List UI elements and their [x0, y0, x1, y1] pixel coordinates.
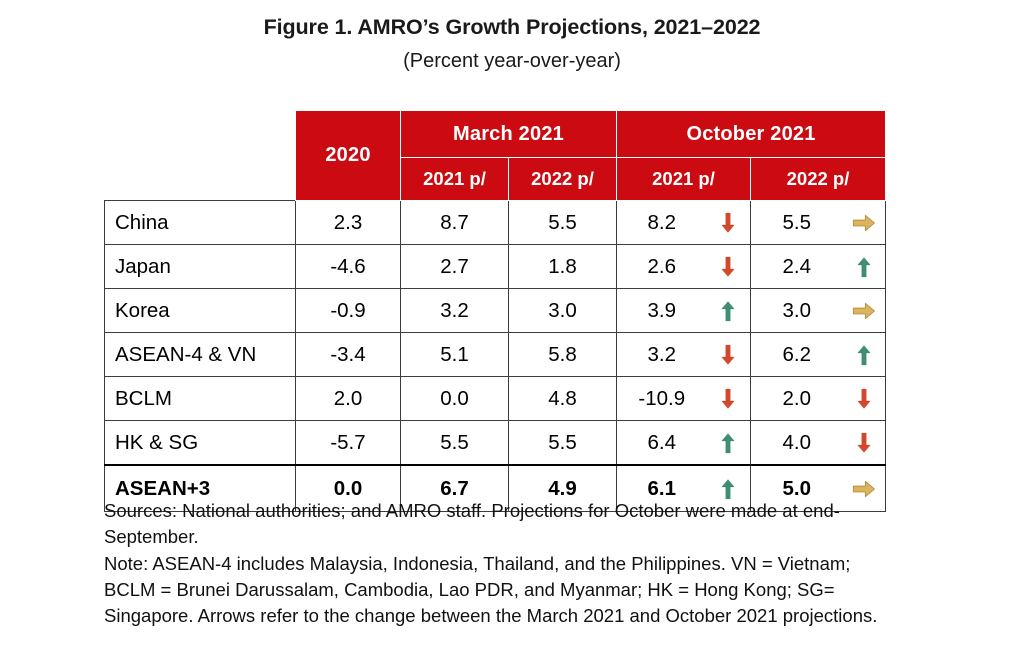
row-label-0: China [105, 201, 296, 245]
cell-march-2022: 3.0 [509, 289, 617, 333]
arrow-down-icon [715, 342, 741, 368]
row-label-1: Japan [105, 245, 296, 289]
header-october-2021-p: 2021 p/ [617, 158, 751, 201]
cell-october-2021: 3.9 [617, 289, 707, 333]
cell-october-2022: 3.0 [751, 289, 843, 333]
arrow-down-icon [715, 386, 741, 412]
cell-october-2021-arrow [707, 289, 751, 333]
cell-october-2022-arrow [843, 201, 886, 245]
cell-march-2022: 5.8 [509, 333, 617, 377]
arrow-down-icon [851, 430, 877, 456]
cell-march-2021: 2.7 [401, 245, 509, 289]
table-header: 2020 March 2021 October 2021 2021 p/ 202… [105, 111, 886, 201]
cell-march-2022: 4.8 [509, 377, 617, 421]
table-header-row-groups: 2020 March 2021 October 2021 [105, 111, 886, 158]
cell-march-2022: 5.5 [509, 201, 617, 245]
arrow-down-icon [715, 210, 741, 236]
cell-march-2021: 5.1 [401, 333, 509, 377]
table-row: Korea-0.93.23.03.93.0 [105, 289, 886, 333]
arrow-up-icon [851, 254, 877, 280]
cell-october-2022-arrow [843, 421, 886, 466]
cell-march-2022: 5.5 [509, 421, 617, 466]
cell-october-2022: 2.0 [751, 377, 843, 421]
arrow-right-icon [851, 298, 877, 324]
table-body: China2.38.75.58.25.5Japan-4.62.71.82.62.… [105, 201, 886, 512]
cell-march-2022: 1.8 [509, 245, 617, 289]
cell-october-2022-arrow [843, 333, 886, 377]
header-group-march-2021: March 2021 [401, 111, 617, 158]
arrow-up-icon [715, 298, 741, 324]
cell-october-2021-arrow [707, 333, 751, 377]
footnote-note: Note: ASEAN-4 includes Malaysia, Indones… [104, 551, 899, 630]
table-row: BCLM2.00.04.8-10.92.0 [105, 377, 886, 421]
cell-october-2021: 2.6 [617, 245, 707, 289]
cell-2020: -5.7 [296, 421, 401, 466]
header-march-2022-p: 2022 p/ [509, 158, 617, 201]
cell-october-2022-arrow [843, 289, 886, 333]
table-row: HK & SG-5.75.55.56.44.0 [105, 421, 886, 466]
row-label-5: HK & SG [105, 421, 296, 466]
cell-october-2022: 2.4 [751, 245, 843, 289]
title-block: Figure 1. AMRO’s Growth Projections, 202… [0, 14, 1024, 74]
cell-october-2021: 6.4 [617, 421, 707, 466]
figure-page: Figure 1. AMRO’s Growth Projections, 202… [0, 0, 1024, 663]
row-label-3: ASEAN-4 & VN [105, 333, 296, 377]
arrow-up-icon [715, 430, 741, 456]
figure-subtitle: (Percent year-over-year) [0, 48, 1024, 74]
header-october-2022-p: 2022 p/ [751, 158, 886, 201]
arrow-down-icon [715, 254, 741, 280]
cell-october-2021-arrow [707, 377, 751, 421]
header-col-2020: 2020 [296, 111, 401, 201]
table-row: Japan-4.62.71.82.62.4 [105, 245, 886, 289]
cell-october-2021-arrow [707, 245, 751, 289]
cell-october-2022: 5.5 [751, 201, 843, 245]
footnote-sources: Sources: National authorities; and AMRO … [104, 498, 899, 551]
arrow-right-icon [851, 210, 877, 236]
cell-october-2021: 8.2 [617, 201, 707, 245]
cell-march-2021: 3.2 [401, 289, 509, 333]
table-row: ASEAN-4 & VN-3.45.15.83.26.2 [105, 333, 886, 377]
cell-october-2021: 3.2 [617, 333, 707, 377]
row-label-2: Korea [105, 289, 296, 333]
cell-2020: 2.3 [296, 201, 401, 245]
header-group-october-2021: October 2021 [617, 111, 886, 158]
cell-march-2021: 5.5 [401, 421, 509, 466]
cell-march-2021: 8.7 [401, 201, 509, 245]
cell-october-2022: 4.0 [751, 421, 843, 466]
projections-table-wrapper: 2020 March 2021 October 2021 2021 p/ 202… [104, 110, 885, 512]
cell-2020: -4.6 [296, 245, 401, 289]
cell-october-2021-arrow [707, 201, 751, 245]
cell-october-2021: -10.9 [617, 377, 707, 421]
footnotes: Sources: National authorities; and AMRO … [104, 498, 899, 629]
cell-october-2022-arrow [843, 377, 886, 421]
cell-october-2022-arrow [843, 245, 886, 289]
projections-table: 2020 March 2021 October 2021 2021 p/ 202… [104, 110, 886, 512]
header-blank-corner [105, 111, 296, 201]
arrow-down-icon [851, 386, 877, 412]
table-row: China2.38.75.58.25.5 [105, 201, 886, 245]
cell-october-2021-arrow [707, 421, 751, 466]
cell-march-2021: 0.0 [401, 377, 509, 421]
arrow-up-icon [851, 342, 877, 368]
row-label-4: BCLM [105, 377, 296, 421]
cell-2020: 2.0 [296, 377, 401, 421]
cell-2020: -3.4 [296, 333, 401, 377]
figure-title: Figure 1. AMRO’s Growth Projections, 202… [0, 14, 1024, 41]
header-march-2021-p: 2021 p/ [401, 158, 509, 201]
cell-october-2022: 6.2 [751, 333, 843, 377]
cell-2020: -0.9 [296, 289, 401, 333]
